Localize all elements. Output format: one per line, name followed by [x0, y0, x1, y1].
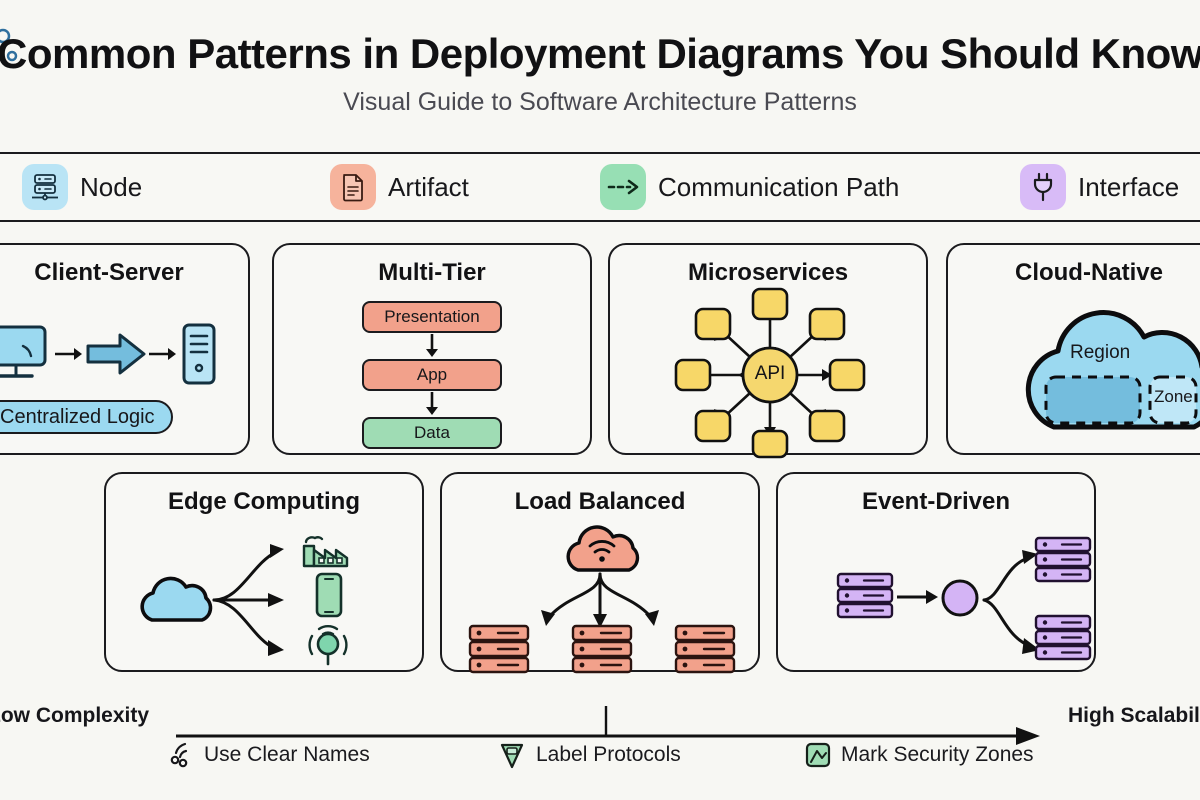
arrow-down-icon — [423, 333, 441, 359]
arrow-right-icon — [54, 345, 84, 363]
server-rack-icon — [571, 624, 633, 676]
tip-label: Mark Security Zones — [841, 743, 1034, 767]
legend-label: Artifact — [388, 172, 469, 203]
cloud-icon — [134, 572, 212, 624]
card-diagram: API — [610, 245, 926, 453]
status-badge: Centralized Logic — [0, 400, 173, 434]
card-diagram: Region Zone — [948, 245, 1200, 453]
card-diagram: Presentation App Data — [274, 245, 590, 453]
axis-left-label: Low Complexity — [0, 704, 149, 728]
server-tower-icon — [180, 323, 218, 385]
tier-label: App — [417, 365, 447, 385]
tips-row: Use Clear Names Label Protocols Mark Sec… — [0, 742, 1200, 792]
header: Common Patterns in Deployment Diagrams Y… — [0, 0, 1200, 140]
server-rack-icon — [836, 572, 894, 622]
card-diagram: Centralized Logic — [0, 245, 248, 453]
legend-item-artifact[interactable]: Artifact — [330, 164, 469, 210]
legend-item-interface[interactable]: Interface — [1020, 164, 1179, 210]
arrow-down-icon — [423, 391, 441, 417]
server-rack-icon — [1034, 536, 1092, 586]
server-node-icon — [22, 164, 68, 210]
card-diagram — [106, 474, 422, 670]
tip-mark-security-zones[interactable]: Mark Security Zones — [805, 742, 1034, 768]
document-artifact-icon — [330, 164, 376, 210]
legend-label: Node — [80, 172, 142, 203]
server-rack-icon — [674, 624, 736, 676]
pattern-card-load-balanced[interactable]: Load Balanced — [440, 472, 760, 672]
legend-bar: Node Artifact — [0, 152, 1200, 222]
cloud-region-label: Region — [1070, 342, 1130, 364]
iot-sensor-icon — [304, 620, 352, 666]
card-diagram — [442, 474, 758, 670]
protocol-funnel-icon — [500, 742, 526, 768]
status-badge-label: Centralized Logic — [0, 406, 155, 429]
server-rack-icon — [1034, 614, 1092, 664]
server-rack-icon — [468, 624, 530, 676]
legend-item-node[interactable]: Node — [22, 164, 142, 210]
legend-label: Communication Path — [658, 172, 899, 203]
page-title: Common Patterns in Deployment Diagrams Y… — [0, 30, 1200, 78]
infographic-page: Common Patterns in Deployment Diagrams Y… — [0, 0, 1200, 800]
plug-interface-icon — [1020, 164, 1066, 210]
pattern-card-microservices[interactable]: Microservices — [608, 243, 928, 455]
page-subtitle: Visual Guide to Software Architecture Pa… — [343, 88, 857, 117]
pattern-card-event-driven[interactable]: Event-Driven — [776, 472, 1096, 672]
arrow-right-icon — [148, 345, 178, 363]
tip-label-protocols[interactable]: Label Protocols — [500, 742, 681, 768]
tier-presentation: Presentation — [362, 301, 502, 333]
legend-label: Interface — [1078, 172, 1179, 203]
pattern-card-multi-tier[interactable]: Multi-Tier Presentation App — [272, 243, 592, 455]
tier-app: App — [362, 359, 502, 391]
security-zone-icon — [805, 742, 831, 768]
tier-label: Presentation — [384, 307, 479, 327]
dashed-arrow-icon — [600, 164, 646, 210]
big-arrow-icon — [86, 331, 148, 377]
api-hub-label: API — [743, 363, 797, 385]
tip-use-clear-names[interactable]: Use Clear Names — [168, 742, 370, 768]
cloud-zone-label: Zone — [1154, 387, 1193, 407]
tier-label: Data — [414, 423, 450, 443]
pattern-card-cloud-native[interactable]: Cloud-Native Region Zone — [946, 243, 1200, 455]
factory-icon — [300, 522, 352, 570]
legend-item-communication-path[interactable]: Communication Path — [600, 164, 899, 210]
pattern-card-client-server[interactable]: Client-Server — [0, 243, 250, 455]
monitor-icon — [0, 323, 50, 385]
naming-icon — [168, 742, 194, 768]
mobile-phone-icon — [314, 572, 344, 618]
wifi-cloud-icon — [560, 522, 640, 574]
card-diagram — [778, 474, 1094, 670]
complexity-scalability-axis: Low Complexity High Scalability — [0, 690, 1200, 750]
tip-label: Use Clear Names — [204, 743, 370, 767]
tip-label: Label Protocols — [536, 743, 681, 767]
axis-right-label: High Scalability — [1068, 704, 1200, 728]
pattern-card-edge-computing[interactable]: Edge Computing — [104, 472, 424, 672]
tier-data: Data — [362, 417, 502, 449]
